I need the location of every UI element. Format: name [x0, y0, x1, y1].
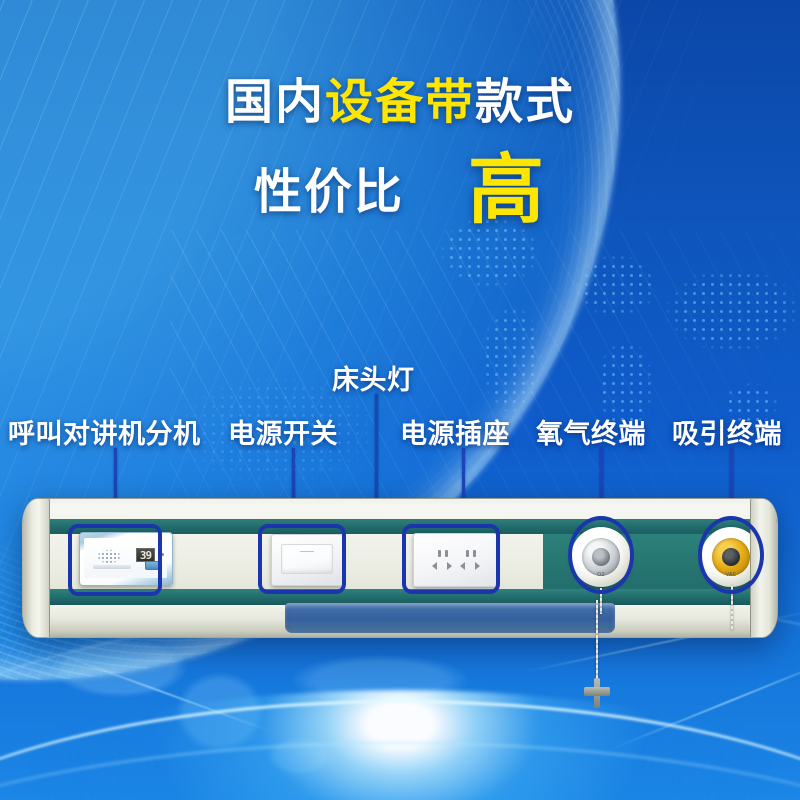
callout-label-oxygen: 氧气终端: [536, 412, 646, 451]
callout-label-power-switch: 电源开关: [228, 412, 338, 451]
headline-line-1: 国内设备带款式: [0, 78, 800, 126]
handle-cross: [584, 687, 610, 696]
callout-label-intercom: 呼叫对讲机分机: [8, 412, 201, 451]
led-indicator-icon: [161, 553, 164, 556]
terminal-port[interactable]: [722, 548, 740, 566]
power-switch[interactable]: [271, 534, 343, 586]
unit-body: 39: [22, 498, 778, 638]
headline-text-prefix: 国内: [225, 74, 325, 130]
socket-pin-slot: [466, 550, 469, 557]
socket-pin-slot: [438, 550, 441, 557]
bed-lamp-diffuser[interactable]: [285, 603, 615, 633]
callout-label-power-socket: 电源插座: [400, 412, 510, 451]
intercom-display: 39: [136, 548, 155, 562]
switch-marking: [300, 551, 314, 552]
switch-rocker[interactable]: [281, 544, 333, 574]
intercom-call-button[interactable]: [145, 561, 159, 570]
suction-cord: [731, 586, 733, 630]
pull-cord[interactable]: [596, 600, 598, 688]
headline-block: 国内设备带款式 性价比高: [0, 78, 800, 228]
socket-pin-slot: [445, 550, 448, 557]
poster-canvas: 国内设备带款式 性价比高 呼叫对讲机分机 电源开关 床头灯 电源插座 氧气终端 …: [0, 0, 800, 800]
intercom-faceplate: 39: [84, 538, 167, 578]
unit-top-sheen: [23, 499, 777, 521]
callout-label-bed-lamp: 床头灯: [332, 358, 415, 397]
power-socket-panel[interactable]: [413, 533, 497, 587]
nurse-call-intercom[interactable]: 39: [79, 532, 173, 586]
bed-head-unit: 39: [22, 498, 778, 638]
intercom-slot: [93, 565, 131, 569]
speaker-grille-icon: [93, 548, 125, 565]
pull-cord-handle[interactable]: [584, 678, 610, 708]
socket-angled-slot: [460, 562, 465, 570]
oxygen-cord: [600, 588, 602, 614]
oxygen-terminal[interactable]: O2: [571, 527, 631, 587]
headline-subtext: 性价比: [254, 164, 404, 220]
headline-emphasis: 高: [468, 145, 546, 234]
callout-label-suction: 吸引终端: [672, 412, 782, 451]
unit-end-cap-right: [750, 498, 778, 638]
socket-angled-slot: [475, 562, 480, 570]
headline-text-suffix: 款式: [475, 74, 575, 130]
terminal-port[interactable]: [592, 548, 610, 566]
socket-outlet-right[interactable]: [458, 550, 484, 572]
unit-end-cap-left: [22, 498, 50, 638]
socket-angled-slot: [432, 562, 437, 570]
headline-line-2: 性价比高: [0, 152, 800, 228]
socket-pin-slot: [473, 550, 476, 557]
headline-text-highlight: 设备带: [325, 74, 475, 130]
terminal-gas-label: O2: [597, 572, 605, 578]
terminal-gas-label: VAC: [726, 572, 737, 578]
socket-angled-slot: [447, 562, 452, 570]
socket-outlet-left[interactable]: [430, 550, 456, 572]
